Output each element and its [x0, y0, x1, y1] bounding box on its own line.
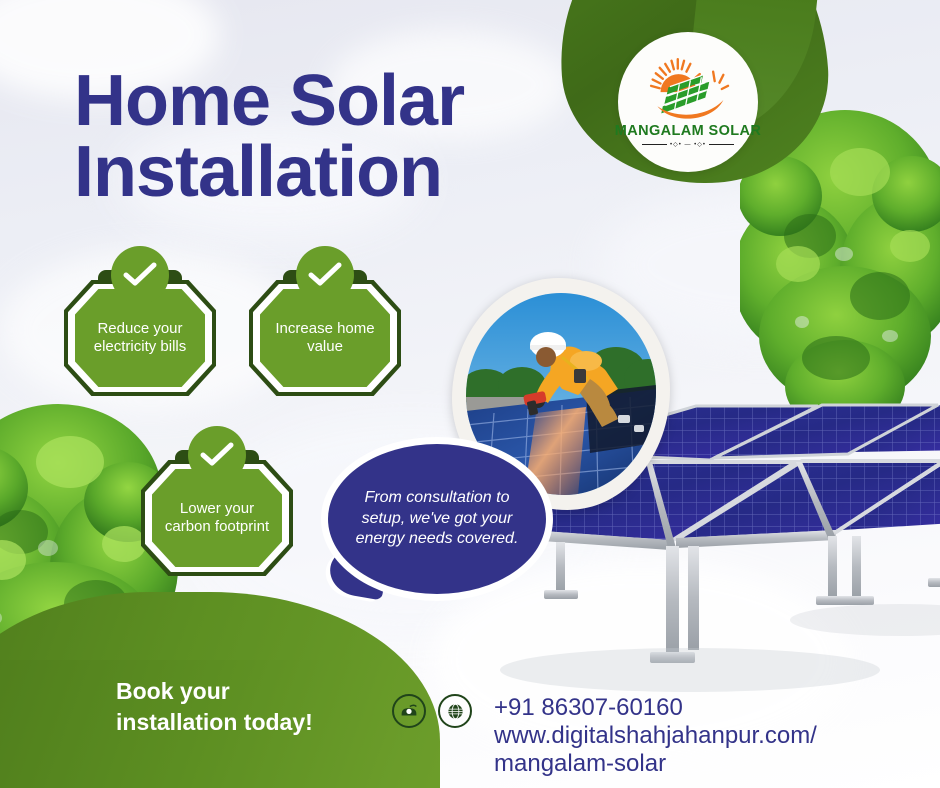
cta-line-1: Book your	[116, 676, 386, 707]
logo-divider-dots: •◇• — •◇•	[670, 141, 706, 148]
sun-solar-panel-icon	[636, 56, 740, 122]
contact-block: +91 86307-60160 www.digitalshahjahanpur.…	[392, 694, 817, 778]
website-line-2[interactable]: mangalam-solar	[494, 750, 817, 778]
headline-line-2: Installation	[74, 137, 464, 208]
speech-bubble: From consultation to setup, we've got yo…	[328, 444, 546, 594]
benefit-label: Increase home value	[260, 320, 390, 357]
cta-line-2: installation today!	[116, 707, 386, 738]
telephone-icon[interactable]	[392, 694, 426, 728]
quote-text: From consultation to setup, we've got yo…	[328, 488, 546, 550]
benefit-badge[interactable]: Reduce your electricity bills	[64, 272, 216, 396]
website-line-1[interactable]: www.digitalshahjahanpur.com/	[494, 722, 817, 750]
benefit-label: Lower your carbon footprint	[152, 500, 282, 537]
poster-canvas: MANGALAM SOLAR •◇• — •◇• Home Solar Inst…	[0, 0, 940, 788]
contact-details: +91 86307-60160 www.digitalshahjahanpur.…	[494, 694, 817, 778]
benefit-label: Reduce your electricity bills	[75, 320, 205, 357]
headline-line-1: Home Solar	[74, 61, 464, 141]
logo-divider: •◇• — •◇•	[642, 141, 734, 148]
check-icon	[296, 246, 354, 304]
phone-number[interactable]: +91 86307-60160	[494, 694, 817, 722]
logo[interactable]: MANGALAM SOLAR •◇• — •◇•	[618, 32, 758, 172]
badge-shield: Increase home value	[249, 272, 401, 396]
cta-text: Book your installation today!	[116, 676, 386, 737]
benefit-badge[interactable]: Increase home value	[249, 272, 401, 396]
logo-wordmark: MANGALAM SOLAR	[615, 123, 762, 139]
page-title: Home Solar Installation	[74, 66, 464, 207]
globe-icon[interactable]	[438, 694, 472, 728]
badge-shield: Lower your carbon footprint	[141, 452, 293, 576]
benefit-badge[interactable]: Lower your carbon footprint	[141, 452, 293, 576]
badge-shield: Reduce your electricity bills	[64, 272, 216, 396]
check-icon	[188, 426, 246, 484]
check-icon	[111, 246, 169, 304]
